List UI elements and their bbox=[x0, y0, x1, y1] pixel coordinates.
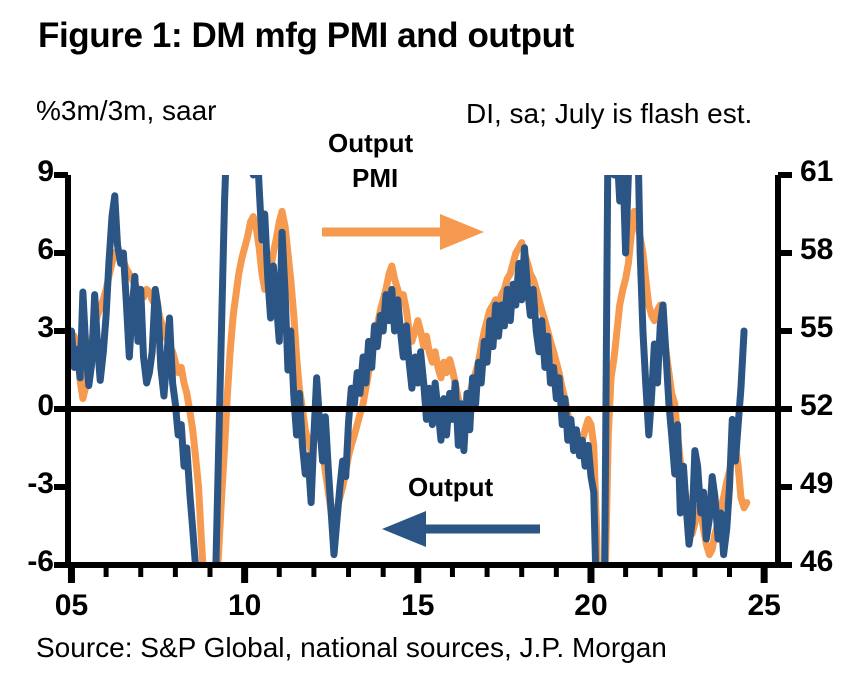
y-tick-label-left: -3 bbox=[0, 467, 54, 501]
y-tick-label-left: 6 bbox=[0, 233, 54, 267]
y-tick-label-right: 61 bbox=[800, 155, 852, 189]
arrow-left-blue bbox=[382, 511, 540, 547]
y-tick-label-right: 55 bbox=[800, 311, 852, 345]
figure-container: Figure 1: DM mfg PMI and output %3m/3m, … bbox=[0, 0, 852, 689]
chart-plot-area bbox=[0, 0, 852, 689]
x-tick-label: 15 bbox=[384, 589, 452, 623]
y-tick-label-left: 3 bbox=[0, 311, 54, 345]
y-tick-label-left: 0 bbox=[0, 389, 54, 423]
x-tick-label: 10 bbox=[211, 589, 279, 623]
y-tick-label-right: 46 bbox=[800, 545, 852, 579]
y-tick-label-right: 49 bbox=[800, 467, 852, 501]
x-tick-label: 25 bbox=[730, 589, 798, 623]
x-tick-label: 05 bbox=[37, 589, 105, 623]
y-tick-label-left: -6 bbox=[0, 545, 54, 579]
y-tick-label-right: 52 bbox=[800, 389, 852, 423]
y-tick-label-right: 58 bbox=[800, 233, 852, 267]
y-tick-label-left: 9 bbox=[0, 155, 54, 189]
arrow-right-orange bbox=[322, 214, 484, 250]
x-tick-label: 20 bbox=[557, 589, 625, 623]
